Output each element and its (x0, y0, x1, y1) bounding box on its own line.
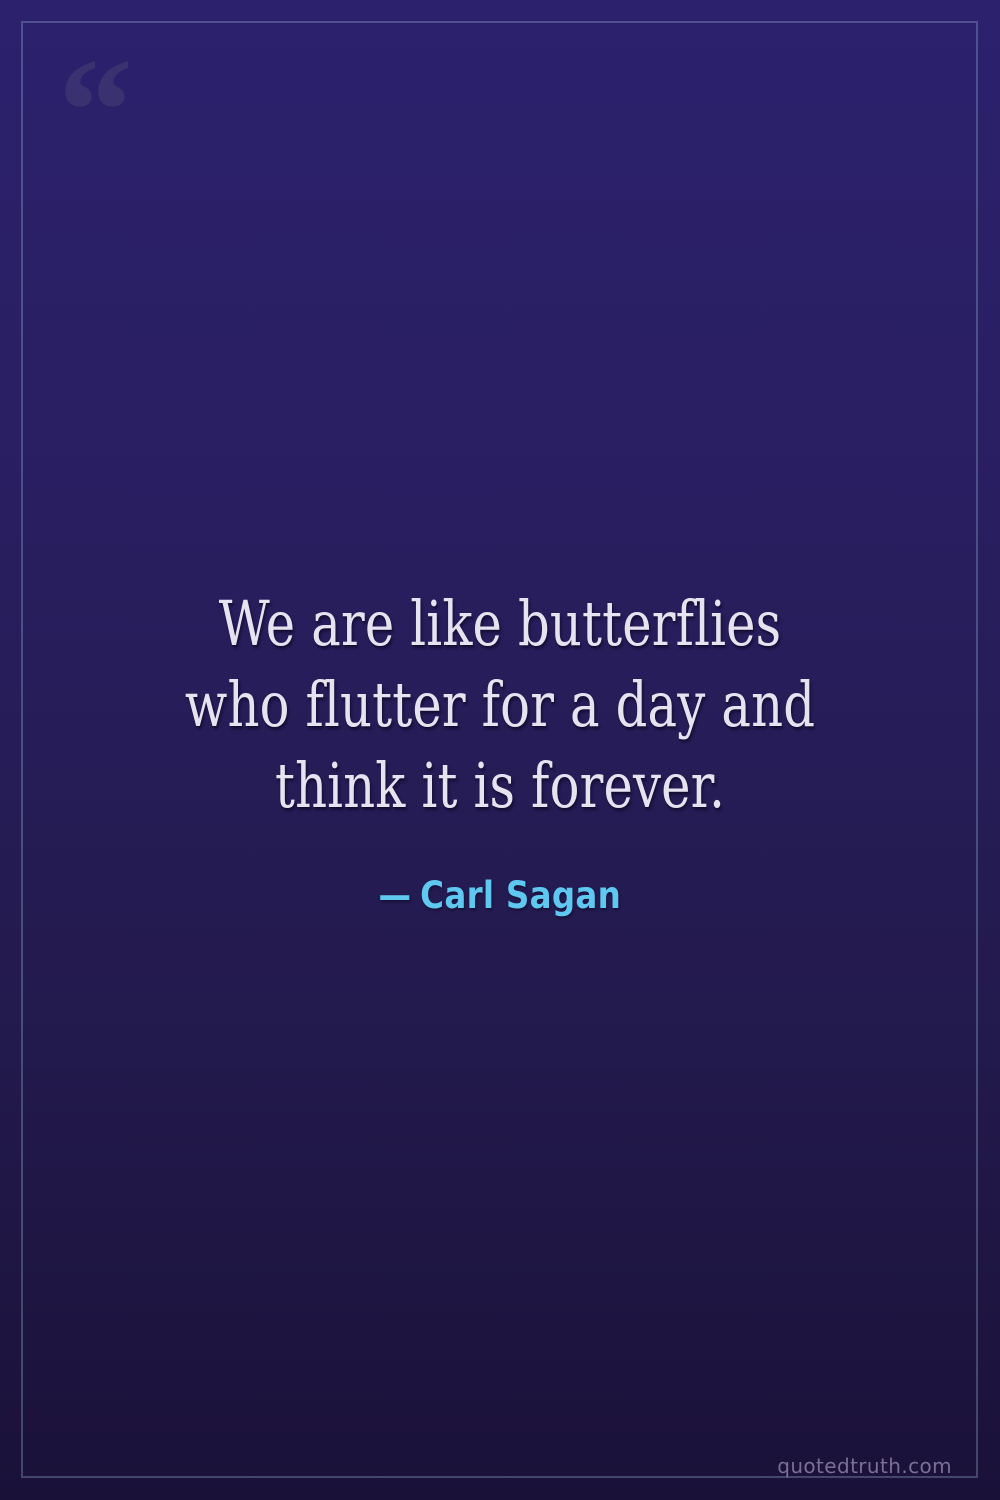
author-attribution: —Carl Sagan (379, 874, 622, 917)
em-dash-icon: — (379, 874, 412, 917)
author-name: Carl Sagan (420, 874, 621, 917)
quote-content-stack: We are like butterflies who flutter for … (0, 0, 1000, 1500)
quote-card: “ We are like butterflies who flutter fo… (0, 0, 1000, 1500)
site-watermark: quotedtruth.com (777, 1454, 952, 1478)
quote-text: We are like butterflies who flutter for … (176, 583, 824, 827)
